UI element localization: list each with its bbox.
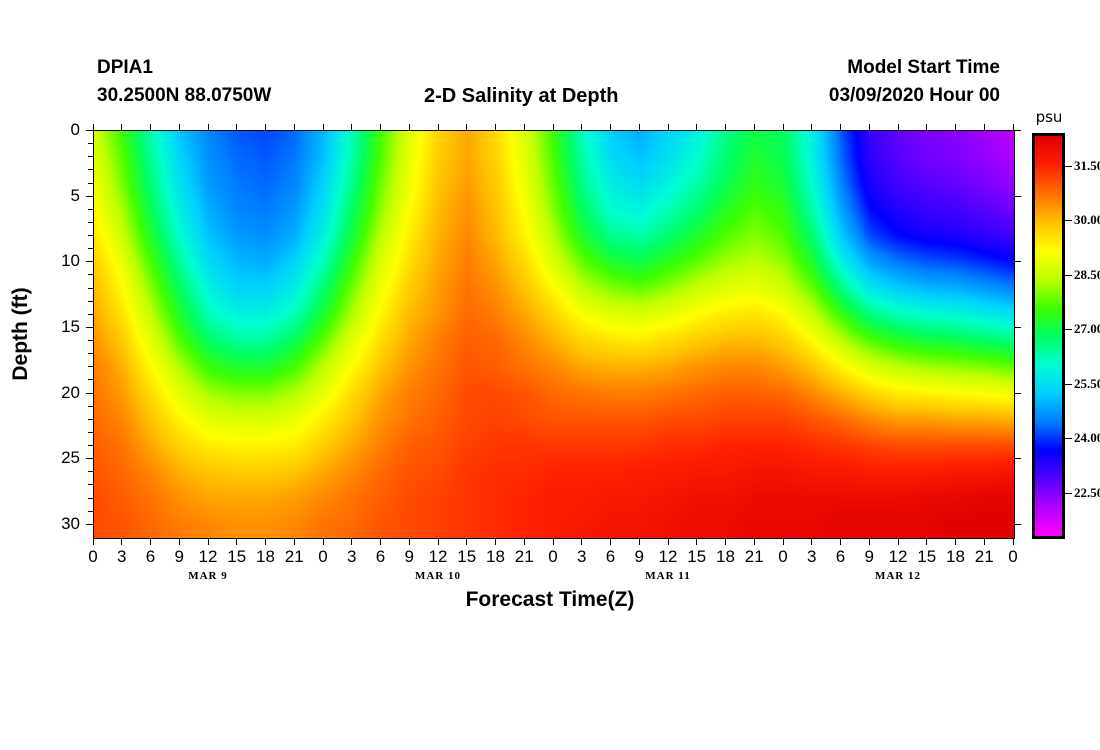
x-axis-tick-label: 9 bbox=[635, 547, 644, 567]
x-axis-tick-label: 21 bbox=[975, 547, 994, 567]
x-axis-tick-label: 6 bbox=[836, 547, 845, 567]
x-axis-tick-top bbox=[984, 124, 985, 131]
colorbar-tick-label: 28.500 bbox=[1074, 267, 1100, 283]
x-axis-tick-label: 12 bbox=[429, 547, 448, 567]
x-axis-tick-label: 12 bbox=[889, 547, 908, 567]
model-start-time-value: 03/09/2020 Hour 00 bbox=[829, 85, 1000, 107]
x-axis-tick bbox=[553, 538, 554, 545]
y-axis-tick bbox=[86, 393, 93, 394]
x-axis-tick-top bbox=[610, 124, 611, 131]
x-axis-tick bbox=[323, 538, 324, 545]
x-axis-tick-top bbox=[294, 124, 295, 131]
y-axis-tick-right bbox=[1014, 524, 1021, 525]
x-axis-tick-label: 18 bbox=[946, 547, 965, 567]
salinity-plot-page: DPIA1 30.2500N 88.0750W 2-D Salinity at … bbox=[0, 0, 1100, 750]
x-axis-tick bbox=[351, 538, 352, 545]
y-axis-minor-tick bbox=[88, 143, 93, 144]
x-axis-tick-label: 15 bbox=[687, 547, 706, 567]
y-axis-minor-tick bbox=[88, 498, 93, 499]
x-axis-day-label: MAR 10 bbox=[415, 570, 461, 582]
salinity-heatmap-canvas bbox=[94, 131, 1014, 538]
x-axis-tick bbox=[380, 538, 381, 545]
x-axis-tick-top bbox=[466, 124, 467, 131]
page-title: 2-D Salinity at Depth bbox=[424, 85, 618, 108]
x-axis-tick-label: 12 bbox=[199, 547, 218, 567]
y-axis-minor-tick bbox=[88, 169, 93, 170]
x-axis-tick bbox=[1013, 538, 1014, 545]
x-axis-tick-top bbox=[926, 124, 927, 131]
x-axis-tick bbox=[466, 538, 467, 545]
x-axis-tick bbox=[639, 538, 640, 545]
x-axis-tick-label: 15 bbox=[917, 547, 936, 567]
y-axis-minor-tick bbox=[88, 484, 93, 485]
y-axis-minor-tick bbox=[88, 314, 93, 315]
y-axis-tick bbox=[86, 327, 93, 328]
x-axis-tick-top bbox=[869, 124, 870, 131]
x-axis-tick-top bbox=[639, 124, 640, 131]
x-axis-tick-top bbox=[236, 124, 237, 131]
x-axis-tick-top bbox=[898, 124, 899, 131]
colorbar-tick bbox=[1065, 493, 1072, 494]
y-axis-minor-tick bbox=[88, 248, 93, 249]
y-axis-minor-tick bbox=[88, 183, 93, 184]
x-axis-tick-label: 15 bbox=[457, 547, 476, 567]
x-axis-tick bbox=[840, 538, 841, 545]
y-axis-minor-tick bbox=[88, 288, 93, 289]
y-axis-tick-right bbox=[1014, 327, 1021, 328]
x-axis-tick-top bbox=[696, 124, 697, 131]
colorbar-tick bbox=[1065, 220, 1072, 221]
x-axis-tick bbox=[121, 538, 122, 545]
x-axis-tick bbox=[898, 538, 899, 545]
y-axis-minor-tick bbox=[88, 445, 93, 446]
x-axis-tick bbox=[668, 538, 669, 545]
x-axis-tick bbox=[438, 538, 439, 545]
x-axis-tick bbox=[783, 538, 784, 545]
x-axis-tick-top bbox=[179, 124, 180, 131]
y-axis-tick-label: 30 bbox=[61, 514, 80, 534]
x-axis-day-label: MAR 11 bbox=[645, 570, 690, 582]
x-axis-tick-top bbox=[783, 124, 784, 131]
x-axis-tick-top bbox=[121, 124, 122, 131]
colorbar-tick bbox=[1065, 384, 1072, 385]
x-axis-tick bbox=[811, 538, 812, 545]
y-axis-minor-tick bbox=[88, 340, 93, 341]
x-axis-tick bbox=[926, 538, 927, 545]
x-axis-tick bbox=[294, 538, 295, 545]
y-axis-minor-tick bbox=[88, 471, 93, 472]
y-axis-tick-right bbox=[1014, 393, 1021, 394]
colorbar-tick-label: 31.500 bbox=[1074, 158, 1100, 174]
colorbar-tick-label: 30.000 bbox=[1074, 212, 1100, 228]
x-axis-tick-top bbox=[438, 124, 439, 131]
x-axis-tick-label: 0 bbox=[548, 547, 557, 567]
x-axis-tick-top bbox=[581, 124, 582, 131]
y-axis-minor-tick bbox=[88, 156, 93, 157]
y-axis-tick-label: 5 bbox=[71, 186, 80, 206]
x-axis-title: Forecast Time(Z) bbox=[0, 588, 1100, 612]
x-axis-tick-top bbox=[668, 124, 669, 131]
x-axis-tick-label: 12 bbox=[659, 547, 678, 567]
x-axis-tick-label: 0 bbox=[88, 547, 97, 567]
x-axis-tick-top bbox=[495, 124, 496, 131]
y-axis-tick-right bbox=[1014, 261, 1021, 262]
x-axis-tick-label: 3 bbox=[347, 547, 356, 567]
x-axis-tick-label: 0 bbox=[318, 547, 327, 567]
x-axis-tick-label: 9 bbox=[865, 547, 874, 567]
x-axis-tick-label: 21 bbox=[285, 547, 304, 567]
x-axis-tick-label: 18 bbox=[716, 547, 735, 567]
x-axis-tick-top bbox=[265, 124, 266, 131]
x-axis-tick bbox=[754, 538, 755, 545]
x-axis-day-label: MAR 12 bbox=[875, 570, 921, 582]
station-id: DPIA1 bbox=[97, 57, 153, 79]
x-axis-tick-label: 3 bbox=[577, 547, 586, 567]
x-axis-tick-label: 9 bbox=[405, 547, 414, 567]
x-axis-tick bbox=[984, 538, 985, 545]
x-axis-tick-top bbox=[380, 124, 381, 131]
x-axis-tick-label: 21 bbox=[745, 547, 764, 567]
colorbar-canvas bbox=[1035, 136, 1062, 536]
y-axis-title: Depth (ft) bbox=[9, 287, 33, 380]
y-axis-tick-right bbox=[1014, 130, 1021, 131]
y-axis-minor-tick bbox=[88, 432, 93, 433]
x-axis-tick-top bbox=[150, 124, 151, 131]
y-axis-tick-right bbox=[1014, 458, 1021, 459]
x-axis-tick bbox=[495, 538, 496, 545]
y-axis-minor-tick bbox=[88, 511, 93, 512]
colorbar-tick bbox=[1065, 166, 1072, 167]
colorbar-tick-label: 22.500 bbox=[1074, 485, 1100, 501]
y-axis-tick-label: 10 bbox=[61, 251, 80, 271]
x-axis-tick-label: 18 bbox=[256, 547, 275, 567]
x-axis-tick-top bbox=[955, 124, 956, 131]
colorbar-unit-label: psu bbox=[1036, 108, 1063, 126]
colorbar bbox=[1032, 133, 1065, 539]
y-axis-tick-right bbox=[1014, 196, 1021, 197]
station-coordinates: 30.2500N 88.0750W bbox=[97, 85, 271, 107]
x-axis-tick-top bbox=[754, 124, 755, 131]
y-axis-minor-tick bbox=[88, 366, 93, 367]
model-start-time-label: Model Start Time bbox=[847, 57, 1000, 79]
x-axis-tick bbox=[265, 538, 266, 545]
x-axis-tick-label: 15 bbox=[227, 547, 246, 567]
x-axis-tick bbox=[524, 538, 525, 545]
x-axis-tick-label: 6 bbox=[146, 547, 155, 567]
x-axis-tick-label: 18 bbox=[486, 547, 505, 567]
x-axis-tick-top bbox=[811, 124, 812, 131]
x-axis-tick-label: 21 bbox=[515, 547, 534, 567]
y-axis-tick bbox=[86, 261, 93, 262]
y-axis-minor-tick bbox=[88, 379, 93, 380]
colorbar-tick bbox=[1065, 329, 1072, 330]
x-axis-tick bbox=[869, 538, 870, 545]
x-axis-tick-label: 0 bbox=[1008, 547, 1017, 567]
colorbar-tick bbox=[1065, 275, 1072, 276]
y-axis-minor-tick bbox=[88, 353, 93, 354]
colorbar-tick-label: 25.500 bbox=[1074, 376, 1100, 392]
x-axis-tick-top bbox=[840, 124, 841, 131]
x-axis-tick bbox=[610, 538, 611, 545]
x-axis-tick-label: 6 bbox=[606, 547, 615, 567]
x-axis-tick bbox=[208, 538, 209, 545]
x-axis-tick bbox=[179, 538, 180, 545]
y-axis-tick-label: 15 bbox=[61, 317, 80, 337]
x-axis-tick-top bbox=[351, 124, 352, 131]
x-axis-tick-top bbox=[553, 124, 554, 131]
x-axis-tick-label: 3 bbox=[807, 547, 816, 567]
y-axis-tick bbox=[86, 196, 93, 197]
x-axis-tick bbox=[150, 538, 151, 545]
y-axis-tick bbox=[86, 458, 93, 459]
x-axis-tick bbox=[696, 538, 697, 545]
x-axis-tick bbox=[581, 538, 582, 545]
x-axis-tick bbox=[236, 538, 237, 545]
y-axis-tick-label: 20 bbox=[61, 383, 80, 403]
x-axis-tick-label: 6 bbox=[376, 547, 385, 567]
x-axis-tick-top bbox=[524, 124, 525, 131]
y-axis-tick bbox=[86, 524, 93, 525]
x-axis-day-label: MAR 9 bbox=[188, 570, 228, 582]
x-axis-tick-label: 9 bbox=[175, 547, 184, 567]
colorbar-tick bbox=[1065, 438, 1072, 439]
y-axis-minor-tick bbox=[88, 406, 93, 407]
salinity-heatmap bbox=[93, 130, 1015, 539]
colorbar-tick-label: 24.000 bbox=[1074, 430, 1100, 446]
x-axis-tick-label: 3 bbox=[117, 547, 126, 567]
y-axis-tick-label: 0 bbox=[71, 120, 80, 140]
y-axis-tick-label: 25 bbox=[61, 448, 80, 468]
y-axis-minor-tick bbox=[88, 209, 93, 210]
x-axis-tick-label: 0 bbox=[778, 547, 787, 567]
x-axis-tick bbox=[93, 538, 94, 545]
y-axis-minor-tick bbox=[88, 274, 93, 275]
y-axis-tick bbox=[86, 130, 93, 131]
x-axis-tick-top bbox=[323, 124, 324, 131]
x-axis-tick bbox=[955, 538, 956, 545]
x-axis-tick-top bbox=[409, 124, 410, 131]
y-axis-minor-tick bbox=[88, 419, 93, 420]
colorbar-tick-label: 27.000 bbox=[1074, 321, 1100, 337]
x-axis-tick bbox=[725, 538, 726, 545]
y-axis-minor-tick bbox=[88, 222, 93, 223]
x-axis-tick-top bbox=[208, 124, 209, 131]
x-axis-tick-top bbox=[725, 124, 726, 131]
y-axis-minor-tick bbox=[88, 301, 93, 302]
x-axis-tick bbox=[409, 538, 410, 545]
y-axis-minor-tick bbox=[88, 235, 93, 236]
